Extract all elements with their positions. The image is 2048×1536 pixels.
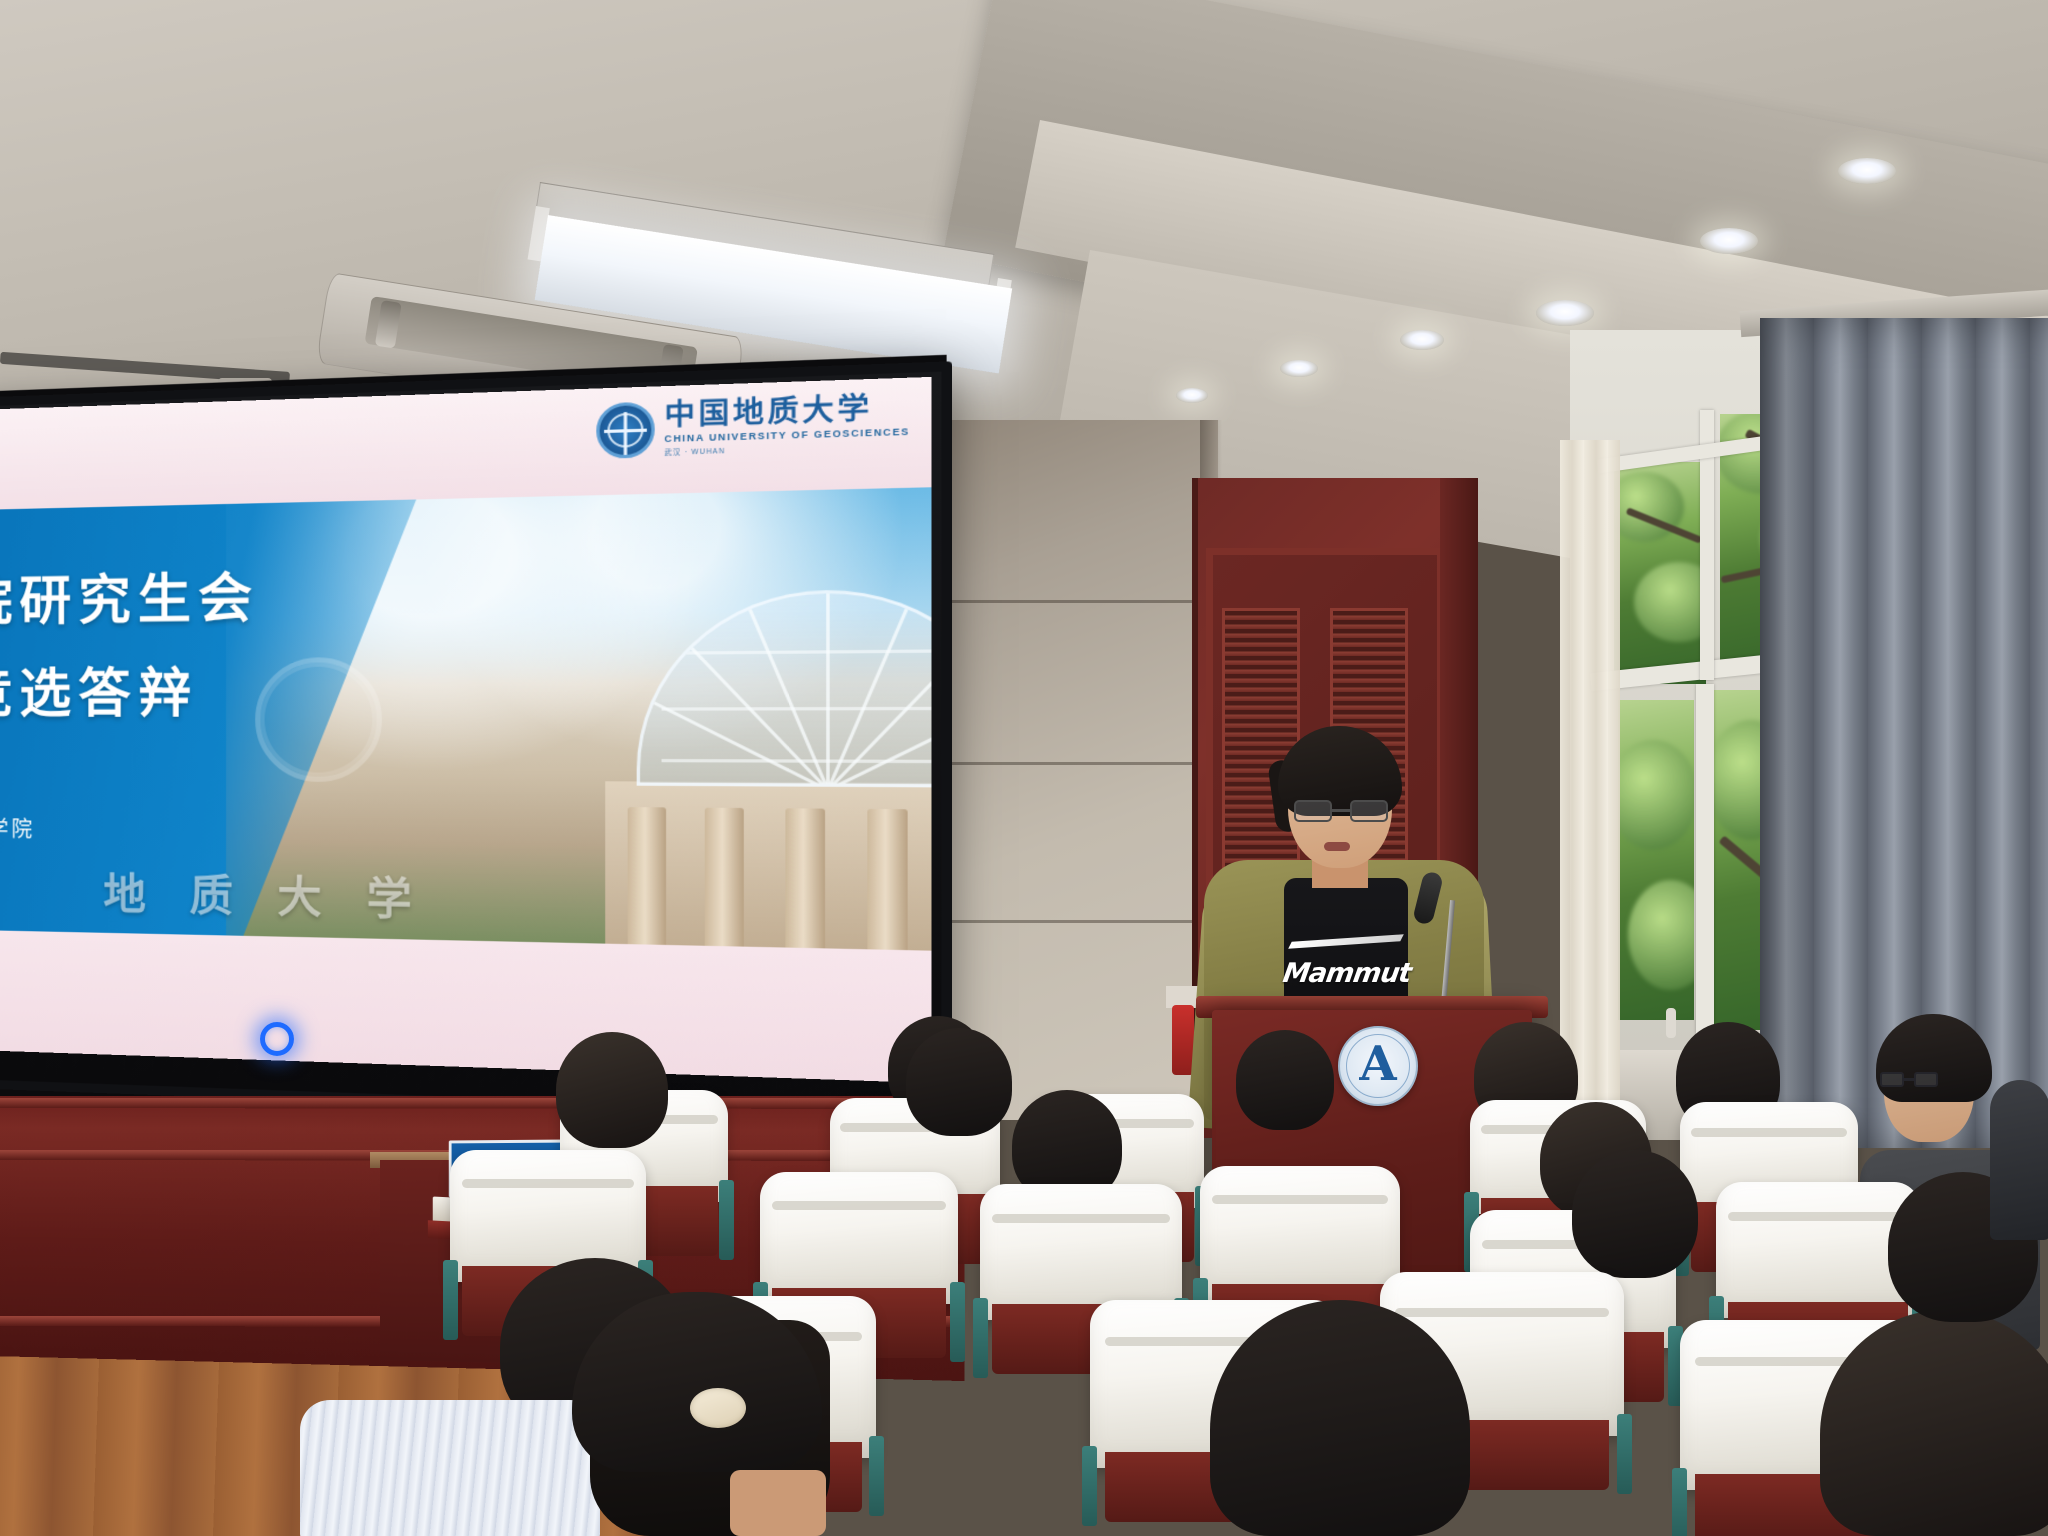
slide-title-line-2: 团竞选答辡 <box>0 650 198 727</box>
window-mullion-vertical <box>1696 684 1714 1034</box>
podium-emblem-icon: A <box>1338 1026 1418 1106</box>
window-pane-upper-left <box>1614 462 1706 684</box>
building-column <box>628 807 666 945</box>
attendee-shoulder <box>1990 1080 2048 1240</box>
dome-hoop <box>662 649 931 655</box>
attendee-head <box>906 1028 1012 1136</box>
attendee-glasses-icon <box>1880 1072 1940 1088</box>
presentation-slide: 中国地质大学 CHINA UNIVERSITY OF GEOSCIENCES 武… <box>0 377 931 1083</box>
downlight-icon <box>1536 300 1594 326</box>
building-column <box>867 809 907 950</box>
dome-hoop <box>662 759 931 763</box>
chair <box>1200 1166 1400 1300</box>
emblem-ring <box>607 413 643 448</box>
dome-hoop <box>662 707 931 711</box>
downlight-icon <box>1700 228 1758 254</box>
stage-trim-top <box>0 1098 965 1109</box>
speaker-glasses-icon <box>1294 800 1388 822</box>
attendee-head <box>556 1032 668 1148</box>
chair <box>760 1172 958 1304</box>
downlight-icon <box>1838 158 1896 184</box>
slide-title-line-1: 学院研究生会 <box>0 555 259 636</box>
attendee-head <box>1572 1150 1698 1278</box>
sheer-curtain[interactable] <box>1560 440 1620 1140</box>
building-column <box>705 808 744 947</box>
dome-rib <box>688 644 830 788</box>
speaker-mouth <box>1324 842 1350 851</box>
glass-dome <box>637 587 932 787</box>
seal-watermark-icon <box>255 657 382 782</box>
university-logo: 中国地质大学 CHINA UNIVERSITY OF GEOSCIENCES 武… <box>596 393 910 459</box>
building-column <box>785 808 825 948</box>
calligraphy-watermark: 地 质 大 学 <box>103 860 427 928</box>
downlight-icon <box>1176 388 1208 403</box>
slide-subtitle: 自动化学院 <box>0 811 35 842</box>
display-power-led-icon[interactable] <box>260 1022 294 1056</box>
attendee-neck <box>730 1470 826 1536</box>
downlight-icon <box>1280 360 1318 377</box>
window-handle-icon[interactable] <box>1666 1008 1676 1038</box>
lecture-hall-photo: 中国地质大学 CHINA UNIVERSITY OF GEOSCIENCES 武… <box>0 0 2048 1536</box>
geosciences-emblem-icon <box>596 402 654 459</box>
tshirt-brand-logo: Mammut <box>1284 950 1409 996</box>
downlight-icon <box>1400 330 1444 350</box>
logo-chinese-name: 中国地质大学 <box>664 393 910 430</box>
hair-scrunchie <box>690 1388 746 1428</box>
attendee-head <box>1236 1030 1334 1130</box>
window-pane-lower-left <box>1618 700 1694 1020</box>
emblem-letter: A <box>1359 1040 1396 1088</box>
attendee-shirt-foreground <box>300 1400 600 1536</box>
slide-main-area: 地 质 大 学 学院研究生会 团竞选答辡 自动化学院 <box>0 487 931 950</box>
